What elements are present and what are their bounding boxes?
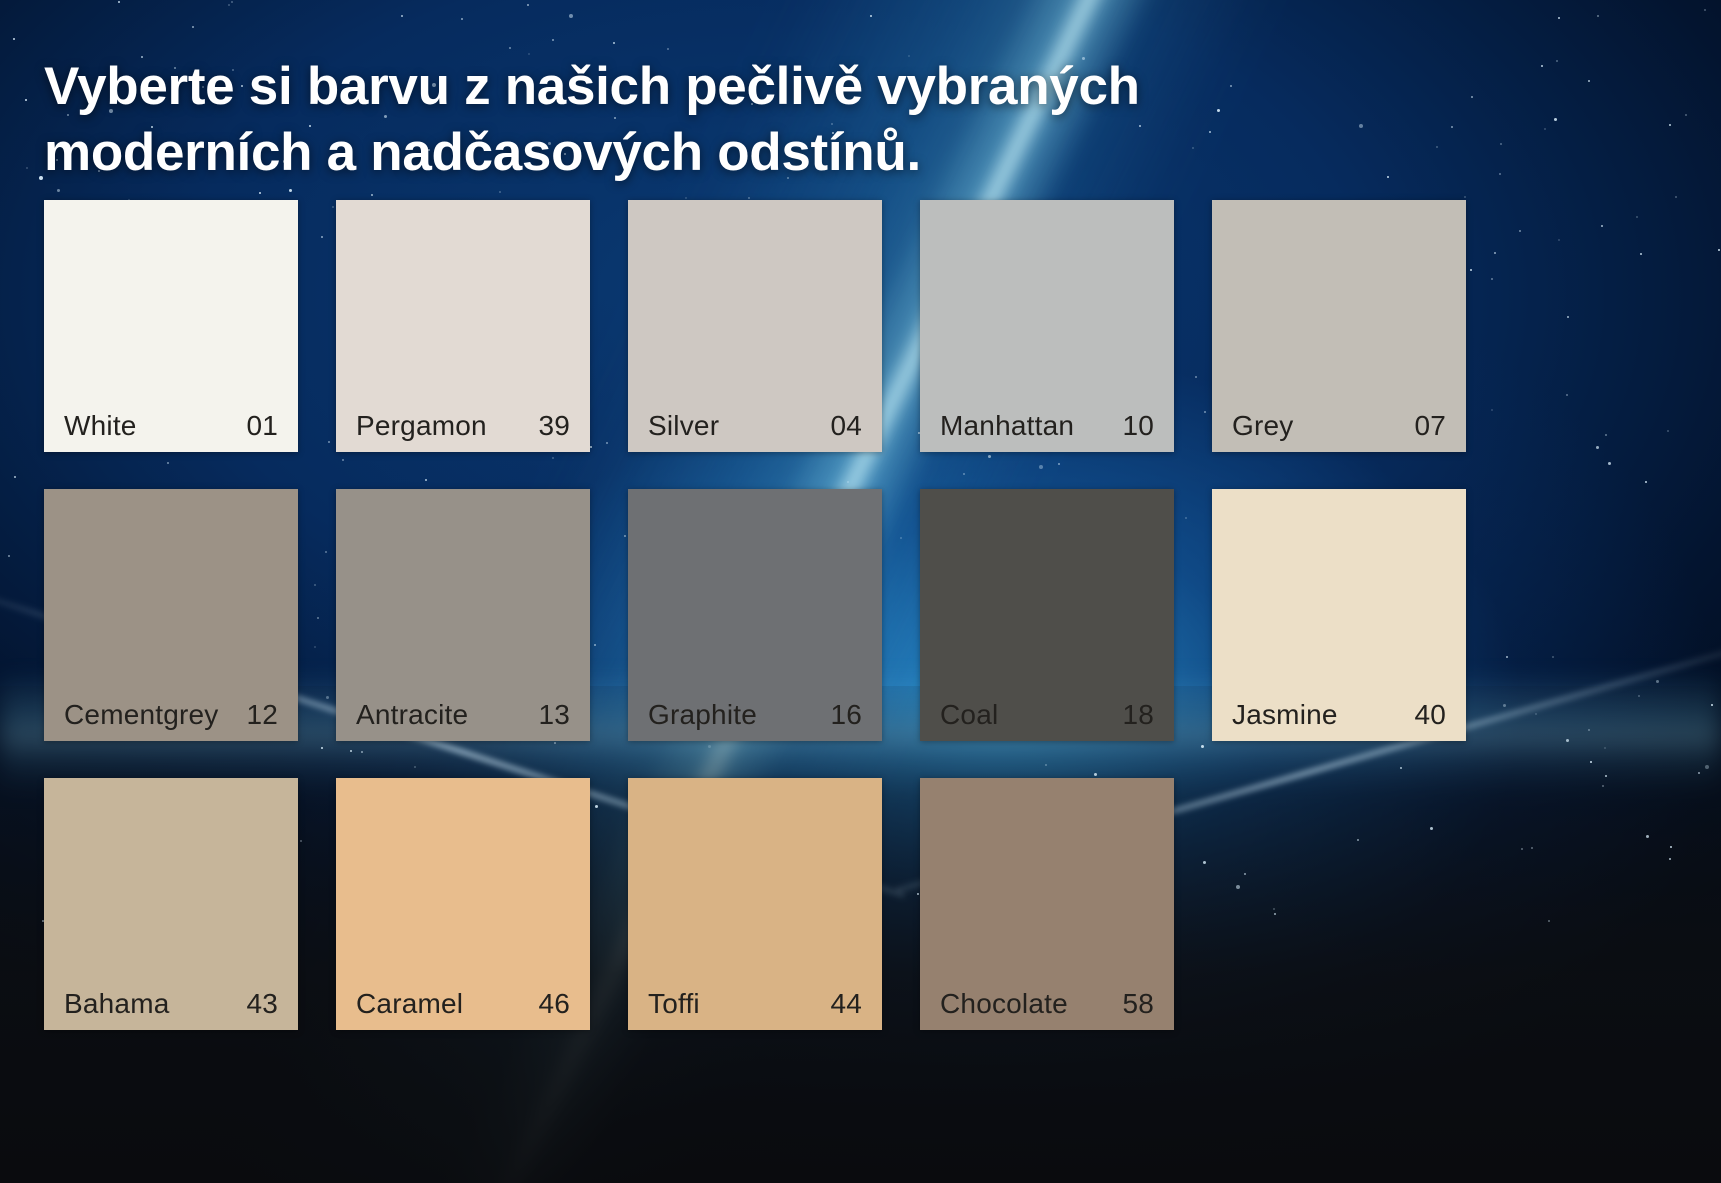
swatch-name: Chocolate <box>940 988 1068 1020</box>
color-swatch-grey[interactable]: Grey07 <box>1212 200 1466 452</box>
swatch-caption: White01 <box>44 410 298 442</box>
swatch-code: 18 <box>1122 699 1154 731</box>
swatch-code: 07 <box>1414 410 1446 442</box>
swatch-caption: Caramel46 <box>336 988 590 1020</box>
swatch-code: 39 <box>538 410 570 442</box>
color-palette-poster: Vyberte si barvu z našich pečlivě vybran… <box>0 0 1721 1183</box>
color-swatch-caramel[interactable]: Caramel46 <box>336 778 590 1030</box>
color-swatch-jasmine[interactable]: Jasmine40 <box>1212 489 1466 741</box>
page-title-line-1: Vyberte si barvu z našich pečlivě vybran… <box>44 57 1140 116</box>
color-swatch-manhattan[interactable]: Manhattan10 <box>920 200 1174 452</box>
swatch-name: Pergamon <box>356 410 487 442</box>
swatch-code: 58 <box>1122 988 1154 1020</box>
swatch-name: Antracite <box>356 699 468 731</box>
color-swatch-toffi[interactable]: Toffi44 <box>628 778 882 1030</box>
swatch-code: 01 <box>246 410 278 442</box>
swatch-caption: Manhattan10 <box>920 410 1174 442</box>
swatch-caption: Coal18 <box>920 699 1174 731</box>
color-swatch-silver[interactable]: Silver04 <box>628 200 882 452</box>
page-title-line-2: moderních a nadčasových odstínů. <box>44 120 1344 187</box>
swatch-name: Graphite <box>648 699 757 731</box>
swatch-caption: Graphite16 <box>628 699 882 731</box>
swatch-code: 12 <box>246 699 278 731</box>
swatch-code: 16 <box>830 699 862 731</box>
swatch-row: White01Pergamon39Silver04Manhattan10Grey… <box>44 200 1484 452</box>
swatch-caption: Grey07 <box>1212 410 1466 442</box>
swatch-code: 04 <box>830 410 862 442</box>
color-swatch-graphite[interactable]: Graphite16 <box>628 489 882 741</box>
swatch-name: Manhattan <box>940 410 1074 442</box>
swatch-code: 13 <box>538 699 570 731</box>
swatch-caption: Toffi44 <box>628 988 882 1020</box>
swatch-name: White <box>64 410 137 442</box>
color-swatch-grid: White01Pergamon39Silver04Manhattan10Grey… <box>44 200 1484 1067</box>
swatch-code: 44 <box>830 988 862 1020</box>
swatch-name: Bahama <box>64 988 170 1020</box>
swatch-name: Cementgrey <box>64 699 219 731</box>
swatch-caption: Silver04 <box>628 410 882 442</box>
swatch-name: Coal <box>940 699 998 731</box>
swatch-caption: Chocolate58 <box>920 988 1174 1020</box>
swatch-code: 43 <box>246 988 278 1020</box>
swatch-code: 40 <box>1414 699 1446 731</box>
swatch-name: Silver <box>648 410 719 442</box>
swatch-caption: Bahama43 <box>44 988 298 1020</box>
swatch-code: 46 <box>538 988 570 1020</box>
swatch-caption: Pergamon39 <box>336 410 590 442</box>
color-swatch-pergamon[interactable]: Pergamon39 <box>336 200 590 452</box>
color-swatch-cementgrey[interactable]: Cementgrey12 <box>44 489 298 741</box>
swatch-caption: Cementgrey12 <box>44 699 298 731</box>
swatch-name: Grey <box>1232 410 1293 442</box>
color-swatch-bahama[interactable]: Bahama43 <box>44 778 298 1030</box>
swatch-name: Jasmine <box>1232 699 1338 731</box>
swatch-caption: Jasmine40 <box>1212 699 1466 731</box>
color-swatch-coal[interactable]: Coal18 <box>920 489 1174 741</box>
swatch-caption: Antracite13 <box>336 699 590 731</box>
swatch-name: Caramel <box>356 988 463 1020</box>
swatch-code: 10 <box>1122 410 1154 442</box>
color-swatch-chocolate[interactable]: Chocolate58 <box>920 778 1174 1030</box>
page-title: Vyberte si barvu z našich pečlivě vybran… <box>44 54 1344 188</box>
swatch-name: Toffi <box>648 988 700 1020</box>
swatch-row: Cementgrey12Antracite13Graphite16Coal18J… <box>44 489 1484 741</box>
color-swatch-white[interactable]: White01 <box>44 200 298 452</box>
color-swatch-antracite[interactable]: Antracite13 <box>336 489 590 741</box>
swatch-row: Bahama43Caramel46Toffi44Chocolate58 <box>44 778 1484 1030</box>
